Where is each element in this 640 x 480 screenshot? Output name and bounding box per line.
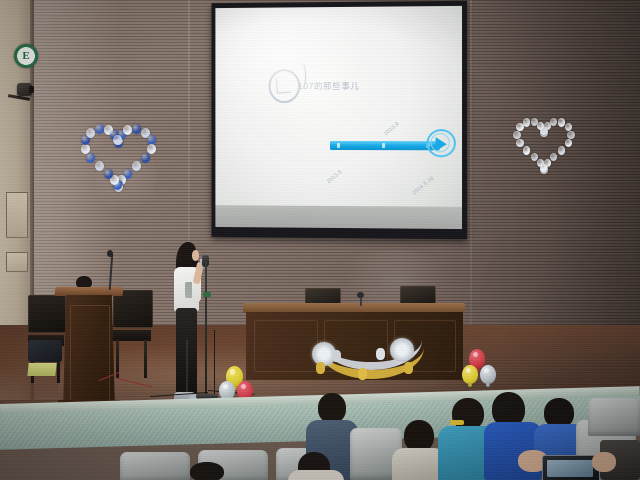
heart-balloon-dot [567,131,575,139]
timeline-node [382,143,385,148]
balloon-highlight [230,369,235,374]
heart-balloon-dot [95,124,104,134]
podium-top [55,287,124,296]
heart-balloon-dot [523,118,531,126]
crest-letter: E [22,51,29,62]
microphone-stand [205,262,207,397]
person-body [288,470,344,480]
timeline-label-1: 2013.5 [326,169,343,185]
audience-seat [588,398,640,436]
timeline-label-2: 2013.9 [383,121,401,137]
screen-lower-band [215,205,462,229]
presenter-leg-gap [186,340,188,394]
garland-tuft [404,362,413,374]
garland-tuft [376,348,385,360]
heart-balloon-dot [516,139,524,147]
timeline-node [337,143,340,148]
screen-glare [215,6,367,122]
chair-leg [144,340,147,378]
audience-seat [120,452,190,480]
heart-balloon-dot [513,131,521,139]
table-microphone-stem [360,297,362,306]
slide-timeline-bar [330,141,439,150]
yellow-sign [27,363,56,376]
camera-lens-icon [29,86,34,93]
heart-balloon-dot [81,144,90,154]
wall-panel-plate [6,192,28,238]
person-eyeglasses-icon [450,420,464,425]
heart-balloon-dot [523,146,531,154]
heart-balloon-dot [86,128,95,138]
timeline-label-3: 2014.5.16 [412,176,436,197]
heart-balloon-dot [141,153,150,163]
projection-screen: 107的那些事儿 2013.5 2013.9 2014.5.16 [211,1,467,239]
balloon-heart-blue [78,118,158,186]
heart-balloon-dot [123,125,132,135]
heart-balloon-dot [565,139,573,147]
slide-ring-graphic [269,69,301,103]
table-panel [254,320,318,372]
photo-scene: 107的那些事儿 2013.5 2013.9 2014.5.16 [0,0,640,480]
garland-disc-right [390,338,414,362]
wall-smudge [330,250,460,310]
podium-panel [70,305,110,402]
mic-cable [214,330,220,394]
hand [592,452,616,472]
garland-tuft [332,350,341,362]
heart-balloon-dot [550,118,558,126]
bag-on-chair [28,340,62,362]
slide-title: 107的那些事儿 [298,80,359,92]
balloon-highlight [223,384,228,389]
heart-balloon-dot [132,124,141,134]
microphone-clip [203,292,211,297]
heart-balloon-dot [558,146,566,154]
person-head [190,462,224,480]
heart-balloon-dot [132,161,141,171]
balloon-silver-right [480,365,496,384]
heart-balloon-dot [104,169,113,179]
heart-balloon-dot [86,153,95,163]
balloon-yellow-right [462,365,478,384]
heart-balloon-dot [147,144,156,154]
screen-surface: 107的那些事儿 2013.5 2013.9 2014.5.16 [215,6,462,229]
balloon-highlight [466,368,471,373]
balloon-highlight [484,368,489,373]
table-garland [318,340,424,374]
chair-back [28,295,66,333]
heart-balloon-dot [550,153,558,161]
wall-panel-plate [6,252,28,272]
balloon-highlight [473,352,478,357]
phone-screen [547,460,593,477]
balloon-heart-silver [512,113,576,169]
heart-balloon-dot [95,161,104,171]
podium-microphone-icon [107,250,113,257]
presenter-face [192,250,199,261]
podium [63,295,115,410]
garland-tuft [316,362,325,374]
balloon-highlight [241,384,246,389]
garland-tuft [358,368,367,380]
person-head [318,393,346,423]
school-crest-icon: E [14,44,38,68]
